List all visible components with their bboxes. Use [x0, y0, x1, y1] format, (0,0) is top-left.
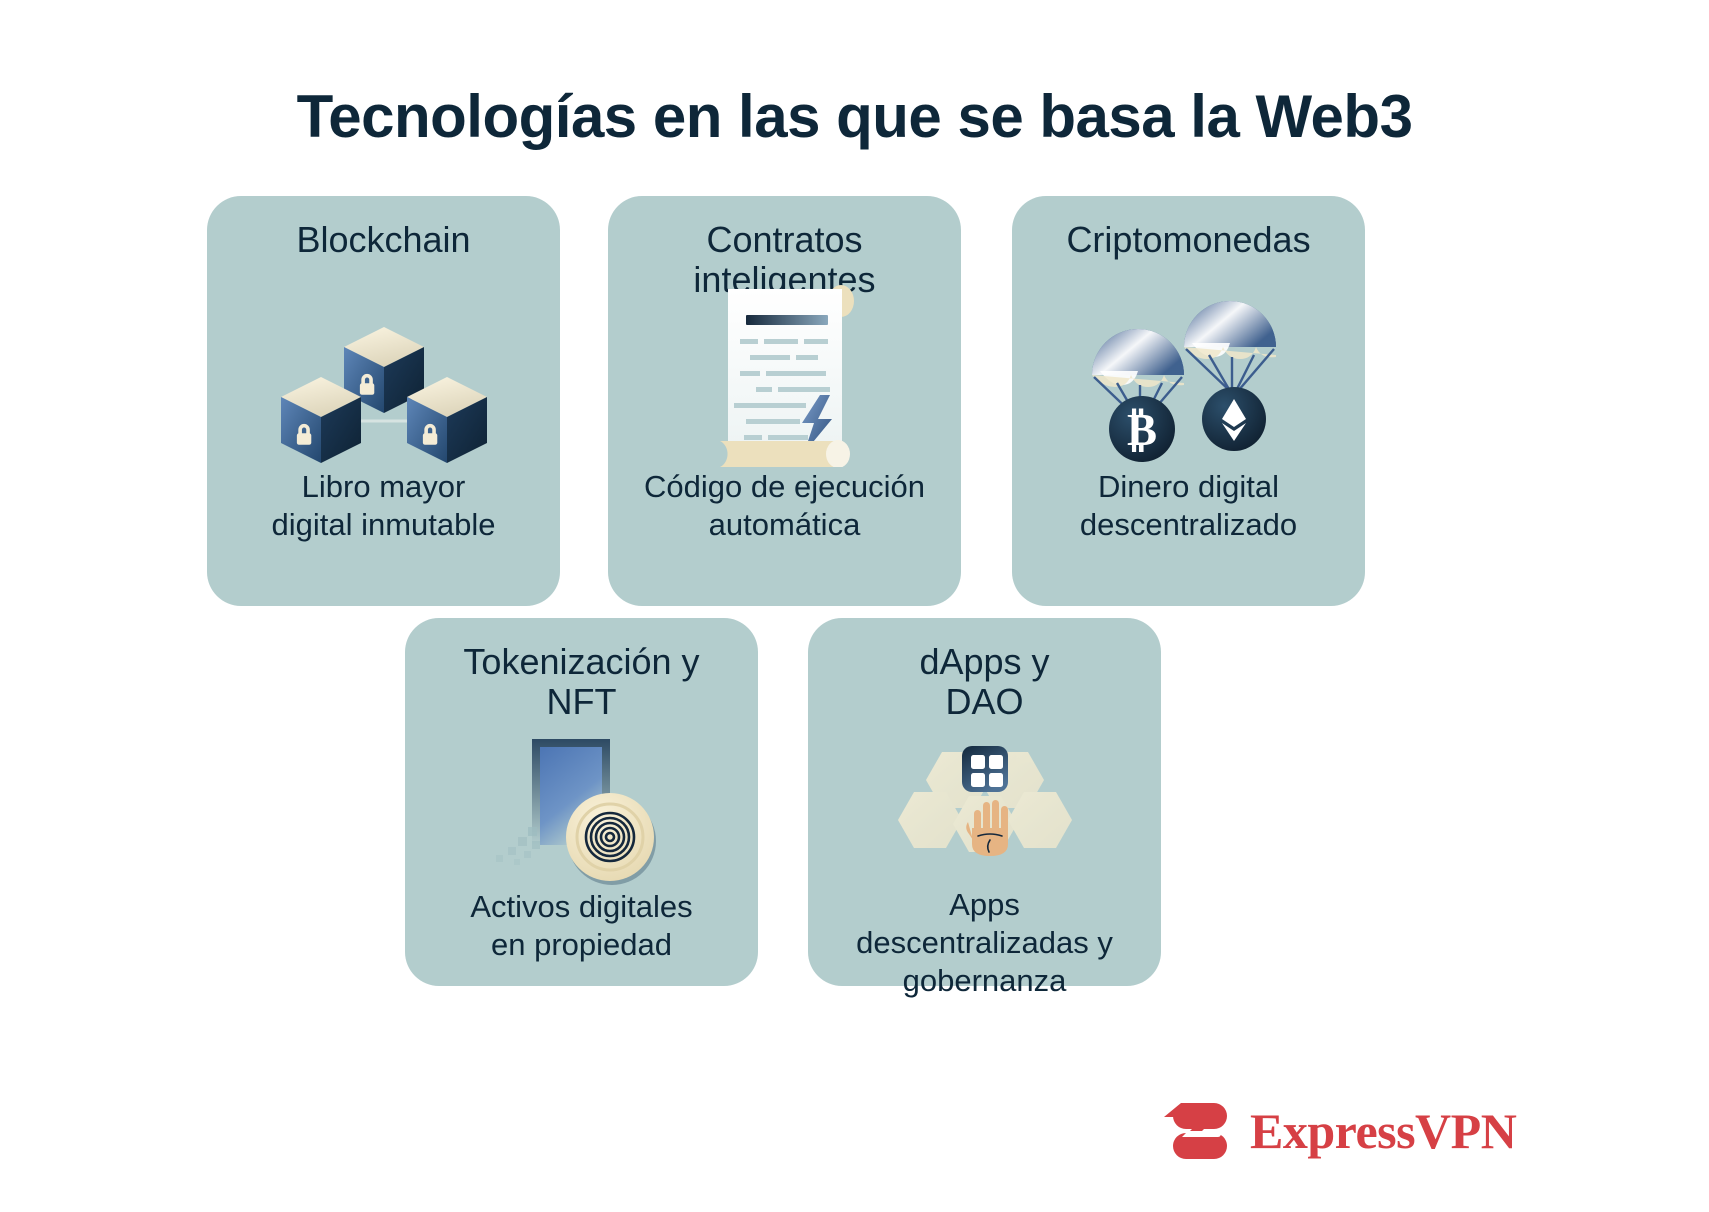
card-crypto: Criptomonedas	[1012, 196, 1365, 606]
contract-scroll-icon	[608, 274, 961, 469]
expressvpn-e-mark-icon	[1162, 1101, 1236, 1161]
card-description-dao: Apps descentralizadas y gobernanza	[822, 886, 1147, 999]
card-blockchain: Blockchain	[207, 196, 560, 606]
card-description-blockchain: Libro mayor digital inmutable	[221, 468, 546, 544]
card-dao: dApps y DAO	[808, 618, 1161, 986]
locked-cubes-icon	[207, 282, 560, 472]
card-contracts: Contratos inteligentes	[608, 196, 961, 606]
expressvpn-wordmark: ExpressVPN	[1250, 1106, 1516, 1156]
card-title-nft: Tokenización y NFT	[463, 642, 699, 723]
infographic-canvas: Tecnologías en las que se basa la Web3 B…	[0, 0, 1709, 1212]
card-title-crypto: Criptomonedas	[1066, 220, 1310, 260]
card-title-dao: dApps y DAO	[919, 642, 1049, 723]
page-title: Tecnologías en las que se basa la Web3	[0, 82, 1709, 151]
svg-text:₿: ₿	[1126, 405, 1156, 455]
card-nft: Tokenización y NFT	[405, 618, 758, 986]
card-title-blockchain: Blockchain	[296, 220, 470, 260]
card-description-nft: Activos digitales en propiedad	[419, 888, 744, 964]
hexagon-apps-hand-icon	[808, 730, 1161, 880]
card-description-crypto: Dinero digital descentralizado	[1026, 468, 1351, 544]
parachuting-coins-icon: ₿	[1012, 276, 1365, 466]
nft-artwork-token-icon	[405, 728, 758, 888]
expressvpn-logo: ExpressVPN	[1162, 1101, 1516, 1161]
card-description-contracts: Código de ejecución automática	[622, 468, 947, 544]
